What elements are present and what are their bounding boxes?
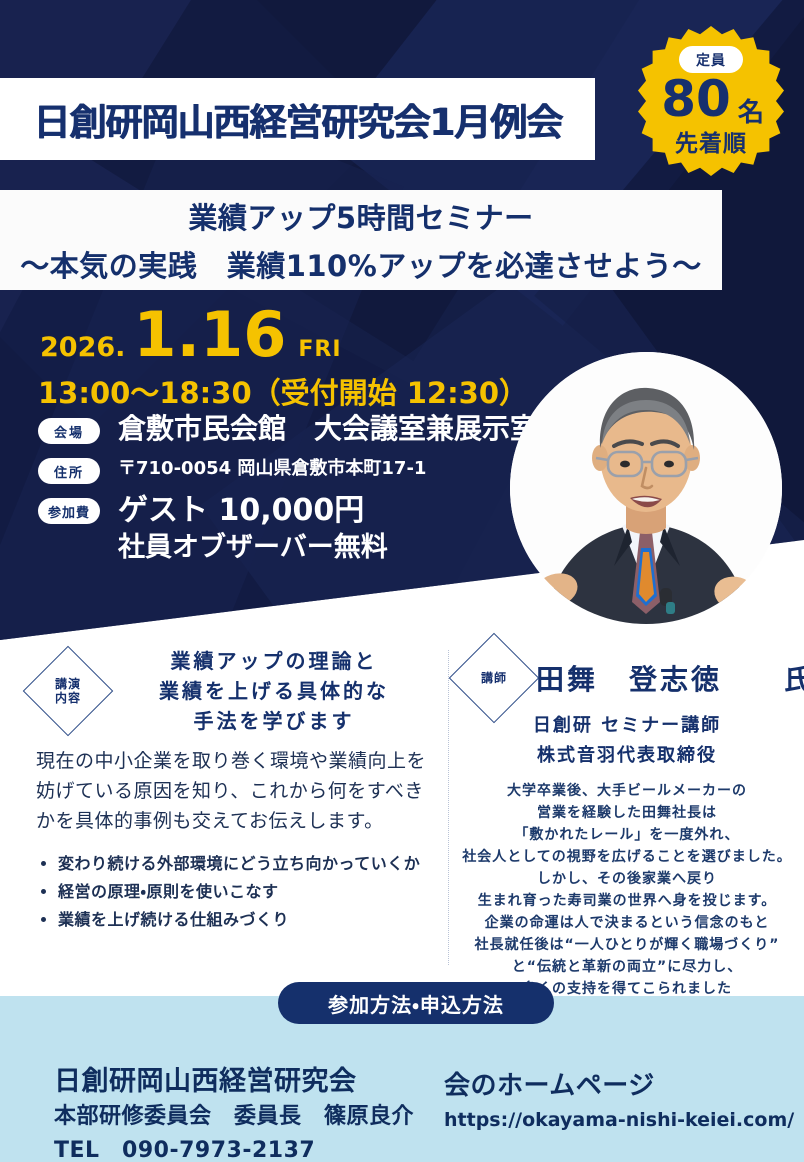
content-heading-line-3: 手法を学びます [112,706,436,736]
flyer-root: 日創研岡山西経営研究会1月例会 定員 80 名 先着順 業績アップ5時間セミナー… [0,0,804,1162]
title-band: 日創研岡山西経営研究会1月例会 [0,78,595,160]
event-date: 2026. 1.16 FRI [40,306,342,364]
speaker-heading-group: 講師 田舞 登志徳 氏 [462,646,792,710]
speaker-name: 田舞 登志徳 氏 [536,658,804,698]
capacity-badge: 定員 80 名 先着順 [638,26,784,176]
info-label-venue: 会場 [38,418,100,444]
subtitle-band: 業績アップ5時間セミナー 〜本気の実践 業績110%アップを必達させよう〜 [0,190,722,290]
footer-website: 会のホームページ https://okayama-nishi-keiei.com… [444,1068,794,1136]
list-item: 業績を上げ続ける仕組みづくり [58,906,436,934]
content-heading-group: 講演 内容 業績アップの理論と 業績を上げる具体的な 手法を学びます [36,646,436,736]
list-item: 経営の原理・原則を使いこなす [58,878,436,906]
date-day: 1.16 [133,306,286,364]
footer-committee: 本部研修委員会 委員長 篠原良介 [54,1100,414,1134]
info-value-fee-observer: 社員オブザーバー無料 [118,530,388,566]
speaker-badge-label: 講師 [481,671,507,685]
footer-telephone: TEL 090-7973-2137 [54,1134,414,1162]
footer-section: 参加方法・申込方法 日創研岡山西経営研究会 本部研修委員会 委員長 篠原良介 T… [0,996,804,1162]
content-heading-line-1: 業績アップの理論と [112,646,436,676]
badge-capacity-number: 80 [652,74,740,124]
subtitle-line-1: 業績アップ5時間セミナー [188,195,533,237]
content-column-right: 講師 田舞 登志徳 氏 日創研 セミナー講師 株式音羽代表取締役 大学卒業後、大… [462,646,792,1000]
subtitle-line-2: 〜本気の実践 業績110%アップを必達させよう〜 [20,243,702,285]
footer-org-name: 日創研岡山西経営研究会 [54,1064,414,1100]
speaker-role-line-2: 株式音羽代表取締役 [462,742,792,770]
badge-capacity-label: 定員 [679,46,743,73]
info-value-fee-guest: ゲスト 10,000円 [118,492,388,530]
event-time: 13:00〜18:30（受付開始 12:30） [38,370,528,412]
date-weekday: FRI [298,337,341,362]
speaker-diamond-badge: 講師 [449,633,540,724]
info-value-fee: ゲスト 10,000円 社員オブザーバー無料 [118,492,388,566]
badge-first-come-note: 先着順 [638,124,784,158]
content-heading-line-2: 業績を上げる具体的な [112,676,436,706]
page-title: 日創研岡山西経営研究会1月例会 [33,92,562,146]
info-row-address: 住所 〒710-0054 岡山県倉敷市本町17-1 [38,452,558,486]
column-divider [448,650,449,965]
info-value-address: 〒710-0054 岡山県倉敷市本町17-1 [118,452,426,486]
info-label-fee: 参加費 [38,498,100,524]
footer-homepage-label: 会のホームページ [444,1068,794,1104]
info-row-venue: 会場 倉敷市民会館 大会議室兼展示室 [38,412,558,446]
content-column-left: 講演 内容 業績アップの理論と 業績を上げる具体的な 手法を学びます 現在の中小… [36,646,436,934]
speaker-photo [510,352,782,624]
event-info-list: 会場 倉敷市民会館 大会議室兼展示室 住所 〒710-0054 岡山県倉敷市本町… [38,412,558,572]
how-to-join-badge: 参加方法・申込方法 [278,982,554,1024]
speaker-bio: 大学卒業後、大手ビールメーカーの 営業を経験した田舞社長は 「敷かれたレール」を… [462,780,792,1000]
content-diamond-badge: 講演 内容 [23,646,114,737]
speaker-role-line-1: 日創研 セミナー講師 [462,712,792,740]
info-row-fee: 参加費 ゲスト 10,000円 社員オブザーバー無料 [38,492,558,566]
content-heading: 業績アップの理論と 業績を上げる具体的な 手法を学びます [112,646,436,736]
footer-contact: 日創研岡山西経営研究会 本部研修委員会 委員長 篠原良介 TEL 090-797… [54,1064,414,1162]
info-value-venue: 倉敷市民会館 大会議室兼展示室 [118,412,538,446]
list-item: 変わり続ける外部環境にどう立ち向かっていくか [58,850,436,878]
content-bullet-list: 変わり続ける外部環境にどう立ち向かっていくか 経営の原理・原則を使いこなす 業績… [36,850,436,934]
content-paragraph: 現在の中小企業を取り巻く環境や業績向上を妨げている原因を知り、これから何をすべき… [36,746,436,836]
date-year: 2026. [40,332,125,363]
content-section: 講演 内容 業績アップの理論と 業績を上げる具体的な 手法を学びます 現在の中小… [0,640,804,985]
footer-url[interactable]: https://okayama-nishi-keiei.com/ [444,1104,794,1136]
content-badge-label: 講演 内容 [55,677,81,705]
info-label-address: 住所 [38,458,100,484]
